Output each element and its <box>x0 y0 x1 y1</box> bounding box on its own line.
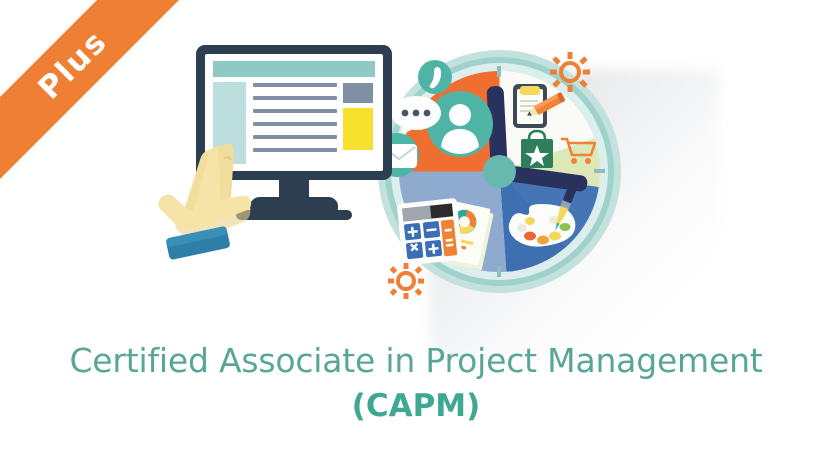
ribbon-label: Plus <box>33 25 113 105</box>
chat-bubble-icon <box>389 94 443 136</box>
screen-yellow-block <box>343 108 373 150</box>
course-title-block: Certified Associate in Project Managemen… <box>0 340 832 426</box>
pie-clock-illustration <box>378 50 621 293</box>
phone-icon <box>418 60 452 94</box>
paint-palette-icon <box>503 182 589 260</box>
screen-header-bar <box>213 61 375 77</box>
gear-icon-bottom <box>388 263 424 299</box>
clock-center-hub <box>483 155 516 188</box>
page-title: Certified Associate in Project Managemen… <box>0 340 832 382</box>
shopping-bag-icon <box>518 128 556 170</box>
screen-gray-block <box>343 83 373 103</box>
clock-tick-12 <box>497 66 501 77</box>
page-subtitle: (CAPM) <box>0 386 832 426</box>
clock-tick-3 <box>594 169 605 173</box>
gear-icon-top <box>550 52 590 92</box>
calculator-icon <box>397 198 463 266</box>
plus-corner-ribbon[interactable]: Plus <box>0 0 200 200</box>
course-card: Plus Certified Associate in Project Mana… <box>0 0 832 468</box>
shopping-cart-icon <box>560 136 598 166</box>
ribbon-band: Plus <box>0 0 189 181</box>
